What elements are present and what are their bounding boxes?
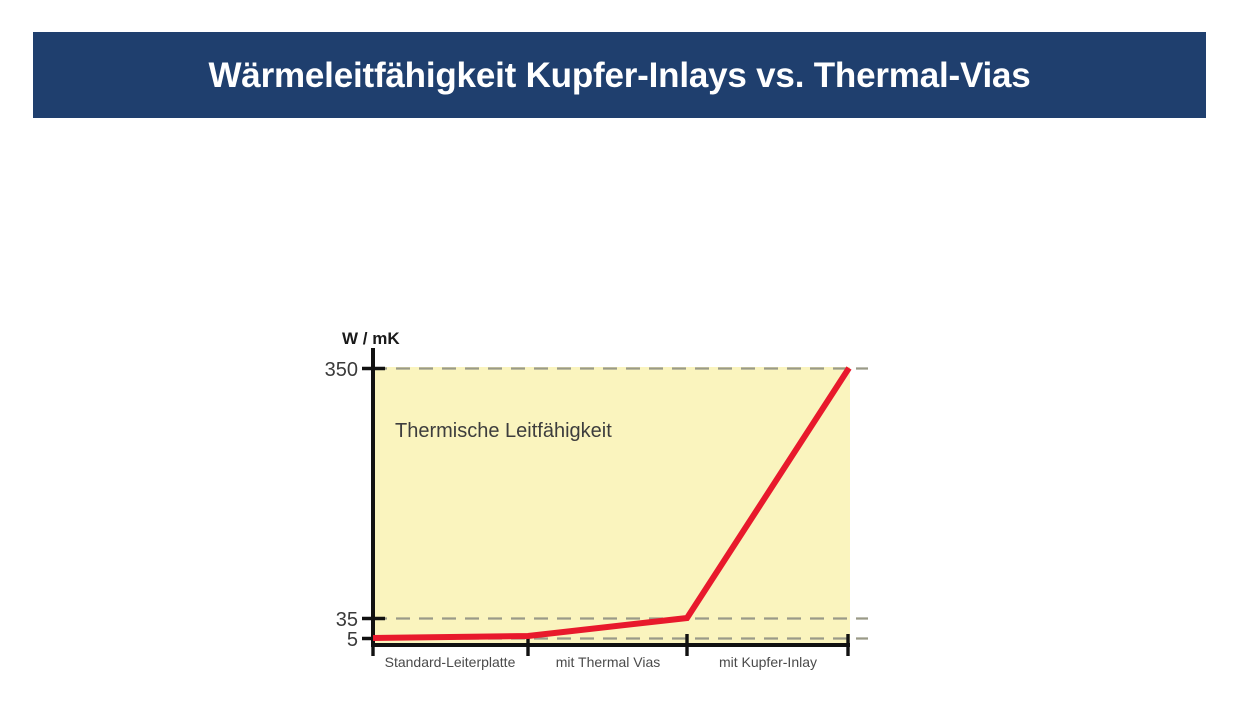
plot-annotation-label: Thermische Leitfähigkeit: [395, 420, 612, 442]
y-tick-label-5: 5: [347, 629, 358, 651]
y-axis-unit-label: W / mK: [342, 329, 400, 348]
x-tick-label-mit-kupfer-inlay: mit Kupfer-Inlay: [719, 654, 817, 670]
plot-area-background: [373, 367, 850, 645]
y-tick-label-350: 350: [325, 359, 358, 381]
series-line-thermische-leitfaehigkeit: [373, 368, 849, 638]
header-banner: Wärmeleitfähigkeit Kupfer-Inlays vs. The…: [33, 32, 1206, 118]
y-tick-label-35: 35: [336, 609, 358, 631]
x-tick-label-mit-thermal-vias: mit Thermal Vias: [556, 654, 661, 670]
x-tick-label-standard-leiterplatte: Standard-Leiterplatte: [385, 654, 516, 670]
page-title: Wärmeleitfähigkeit Kupfer-Inlays vs. The…: [208, 58, 1030, 93]
